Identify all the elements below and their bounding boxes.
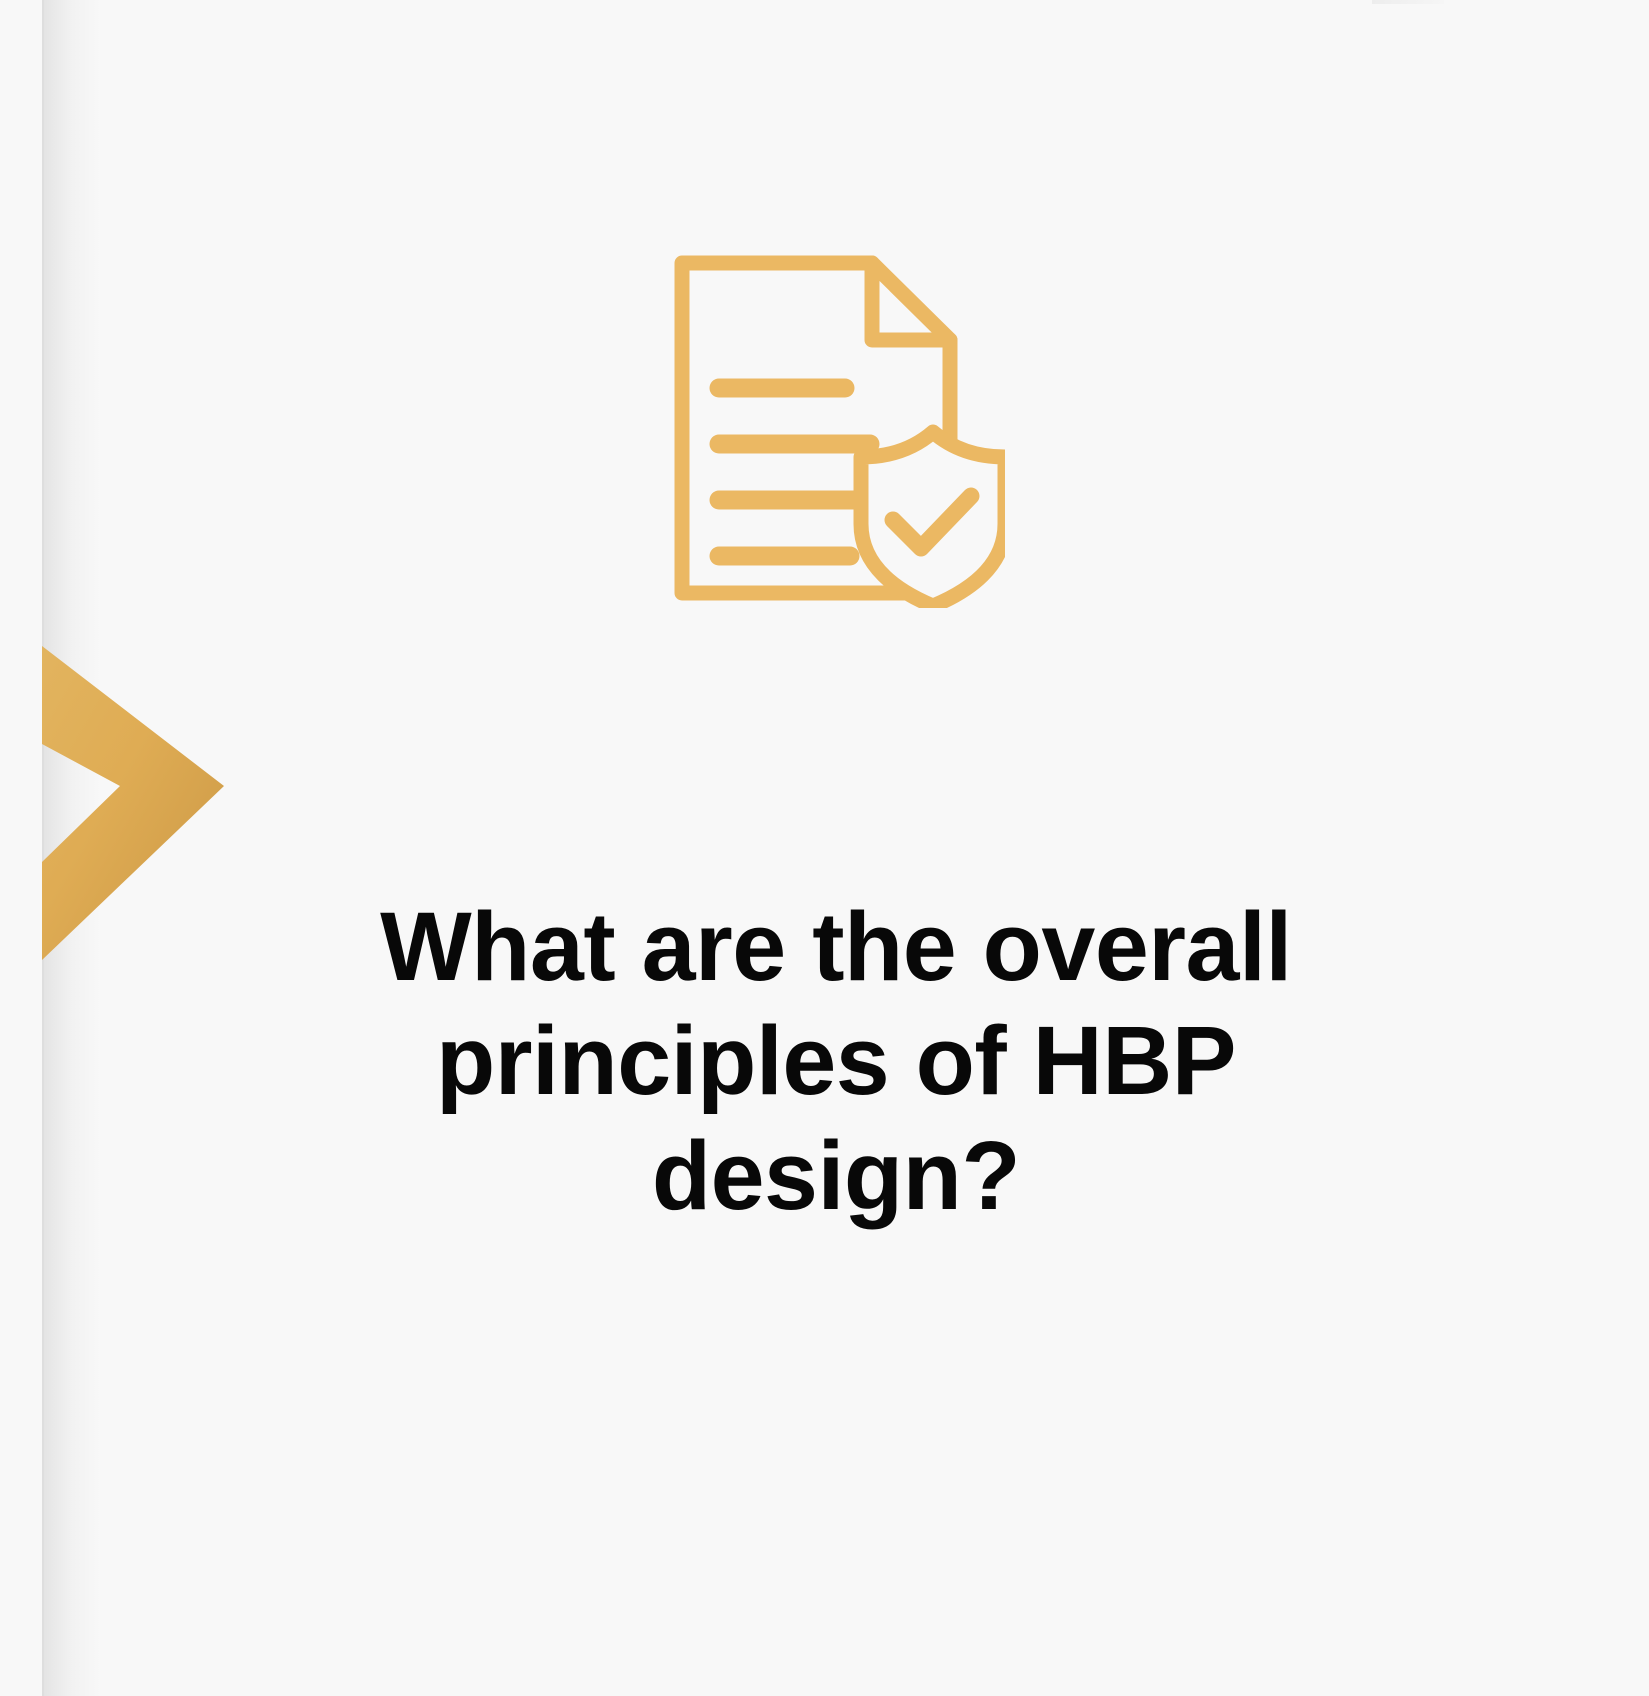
page-title: What are the overall principles of HBP d… (331, 890, 1341, 1233)
slide-content: What are the overall principles of HBP d… (106, 0, 1649, 1696)
document-shield-check-icon (665, 248, 1005, 608)
